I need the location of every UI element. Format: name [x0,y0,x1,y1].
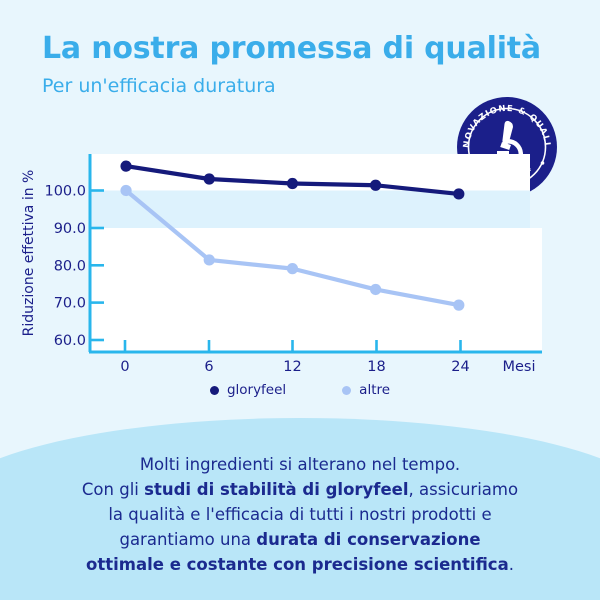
x-tick-label: 0 [120,359,129,375]
chart-svg: 100.0 90.0 80.0 70.0 60.0 0 6 12 18 24 M… [0,140,600,415]
copy-text: , assicuriamo [409,480,519,499]
copy-text-strong: studi di stabilità di gloryfeel [144,480,408,499]
legend-item-altre[interactable]: altre [342,382,390,398]
data-point [370,180,381,191]
data-point [120,185,131,196]
copy-line-4: garantiamo una durata di conservazione [52,527,548,552]
copy-text: Molti ingredienti si alterano nel tempo. [140,455,460,474]
copy-line-3: la qualità e l'efficacia di tutti i nost… [52,502,548,527]
y-axis-title: Riduzione effettiva in % [21,170,37,337]
copy-text: . [509,555,514,574]
data-point [287,263,298,274]
data-point [453,300,464,311]
legend-dot-icon [342,386,351,395]
x-tick-label: 18 [367,359,385,375]
data-point [370,284,381,295]
page-subtitle: Per un'efficacia duratura [0,67,600,98]
data-point [204,173,215,184]
data-point [120,161,131,172]
plot-band-highlight [90,191,530,229]
legend-label: gloryfeel [227,382,286,398]
copy-text-strong: durata di conservazione [256,530,480,549]
x-tick-label: 12 [283,359,301,375]
x-axis-title: Mesi [502,359,535,375]
y-tick-label: 80.0 [54,258,86,274]
legend-item-gloryfeel[interactable]: gloryfeel [210,382,286,398]
x-tick-label: 6 [204,359,213,375]
header: La nostra promessa di qualità Per un'eff… [0,0,600,97]
x-tick-labels: 0 6 12 18 24 [120,359,469,375]
data-point [287,178,298,189]
page-title: La nostra promessa di qualità [0,0,600,67]
chart-legend: gloryfeel altre [0,382,600,398]
copy-line-2: Con gli studi di stabilità di gloryfeel,… [52,477,548,502]
copy-text: garantiamo una [119,530,256,549]
infographic-root: La nostra promessa di qualità Per un'eff… [0,0,600,600]
y-tick-labels: 100.0 90.0 80.0 70.0 60.0 [44,184,86,350]
legend-label: altre [359,382,390,398]
data-point [204,254,215,265]
y-tick-label: 70.0 [54,296,86,312]
copy-text: la qualità e l'efficacia di tutti i nost… [108,505,491,524]
legend-dot-icon [210,386,219,395]
y-tick-label: 100.0 [44,184,86,200]
x-tick-label: 24 [451,359,469,375]
y-tick-label: 90.0 [54,221,86,237]
copy-line-5: ottimale e costante con precisione scien… [52,552,548,577]
stability-line-chart: 100.0 90.0 80.0 70.0 60.0 0 6 12 18 24 M… [0,140,600,415]
copy-text: Con gli [82,480,144,499]
copy-text-strong: ottimale e costante con precisione scien… [86,555,509,574]
y-tick-label: 60.0 [54,333,86,349]
plot-band-below [90,228,542,352]
copy-line-1: Molti ingredienti si alterano nel tempo. [52,452,548,477]
data-point [453,188,464,199]
footer-copy: Molti ingredienti si alterano nel tempo.… [0,452,600,577]
